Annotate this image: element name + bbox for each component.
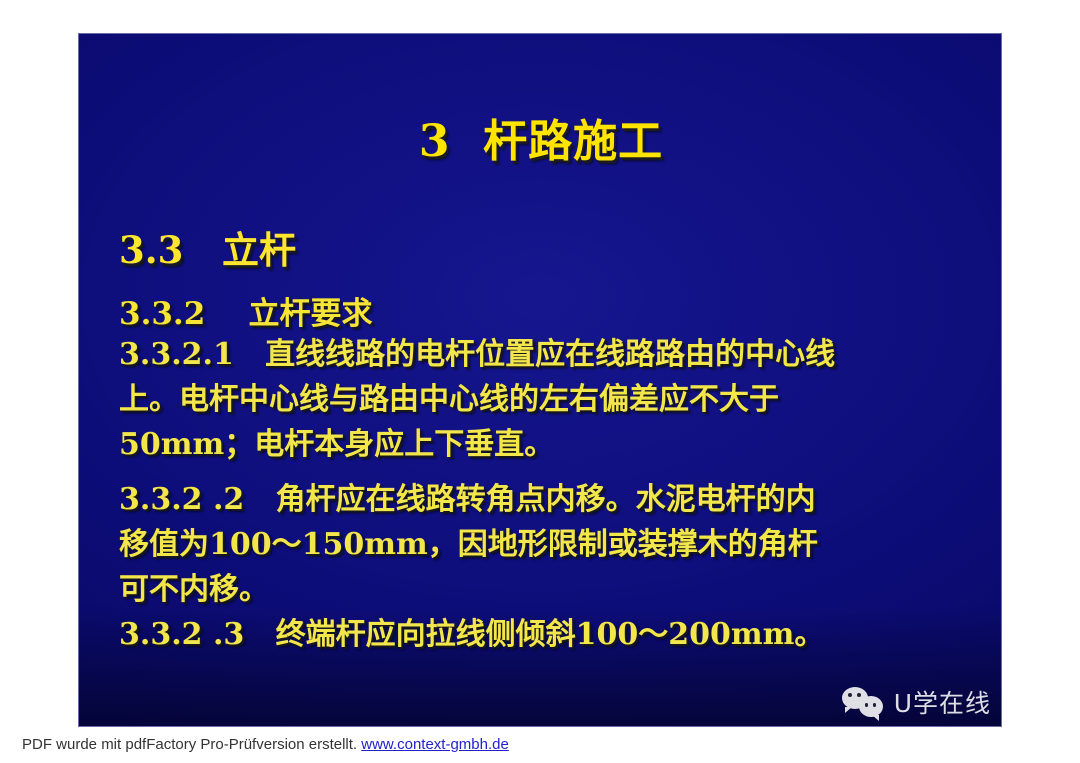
paragraph-line: 50mm；电杆本身应上下垂直。: [119, 422, 975, 467]
presentation-slide: 3 杆路施工 3.3 立杆 3.3.2 立杆要求 3.3.2.1 直线线路的电杆…: [78, 33, 1002, 727]
paragraph-3-3-2-3: 3.3.2 .3 终端杆应向拉线侧倾斜100～200mm。: [119, 612, 975, 657]
paragraph-line: 移值为100～150mm，因地形限制或装撑木的角杆: [119, 522, 975, 567]
wechat-eye-3: [865, 703, 869, 707]
paragraph-3-3-2-1: 3.3.2.1 直线线路的电杆位置应在线路路由的中心线 上。电杆中心线与路由中心…: [119, 332, 975, 467]
wechat-eye-1: [848, 693, 852, 697]
pdf-footer-notice: PDF wurde mit pdfFactory Pro-Prüfversion…: [22, 736, 509, 753]
section-heading-3-3: 3.3 立杆: [119, 230, 296, 271]
paragraph-line: 3.3.2 .2 角杆应在线路转角点内移。水泥电杆的内: [119, 477, 975, 522]
paragraph-line: 3.3.2 .3 终端杆应向拉线侧倾斜100～200mm。: [119, 612, 975, 657]
paragraph-line: 可不内移。: [119, 567, 975, 612]
wechat-eye-2: [857, 693, 861, 697]
watermark-label: U学在线: [894, 691, 991, 716]
paragraph-line: 上。电杆中心线与路由中心线的左右偏差应不大于: [119, 377, 975, 422]
section-heading-3-3-2: 3.3.2 立杆要求: [119, 297, 372, 331]
footer-link[interactable]: www.context-gmbh.de: [361, 736, 509, 753]
wechat-bubble-small: [859, 696, 883, 717]
watermark-logo: U学在线: [842, 686, 991, 720]
wechat-icon: [842, 686, 888, 720]
paragraph-line: 3.3.2.1 直线线路的电杆位置应在线路路由的中心线: [119, 332, 975, 377]
paragraph-3-3-2-2: 3.3.2 .2 角杆应在线路转角点内移。水泥电杆的内 移值为100～150mm…: [119, 477, 975, 612]
slide-title: 3 杆路施工: [79, 118, 1002, 166]
footer-text: PDF wurde mit pdfFactory Pro-Prüfversion…: [22, 736, 361, 753]
wechat-eye-4: [873, 703, 877, 707]
